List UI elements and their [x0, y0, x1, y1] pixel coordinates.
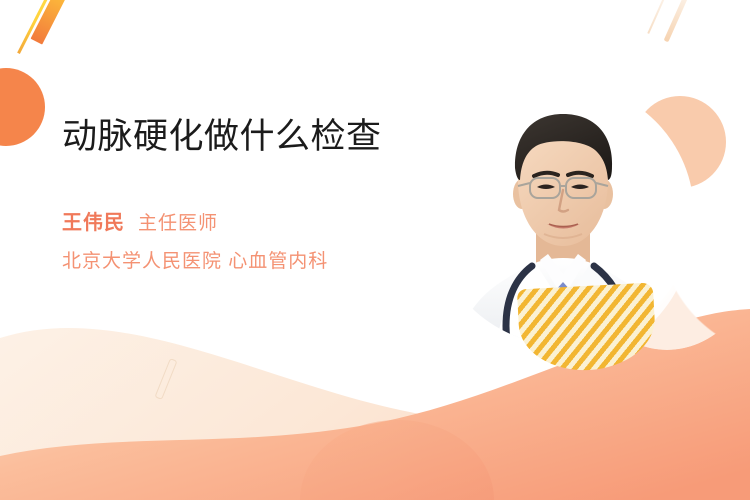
orange-circle-decoration	[0, 68, 45, 146]
lower-left-faint-stripe-icon	[154, 358, 177, 400]
top-right-stripe-b-icon	[647, 0, 672, 34]
top-right-stripe-a-icon	[664, 0, 694, 42]
top-left-thin-stripe-icon	[17, 0, 59, 54]
doctor-byline: 王伟民 主任医师	[62, 206, 412, 235]
top-left-thick-stripe-icon	[31, 0, 79, 45]
doctor-title: 主任医师	[138, 208, 218, 235]
page-title: 动脉硬化做什么检查	[62, 112, 397, 161]
article-cover-card: 动脉硬化做什么检查 王伟民 主任医师 北京大学人民医院 心血管内科	[0, 0, 750, 500]
doctor-name: 王伟民	[62, 206, 125, 235]
doctor-affiliation: 北京大学人民医院 心血管内科	[62, 246, 412, 273]
text-block: 动脉硬化做什么检查 王伟民 主任医师 北京大学人民医院 心血管内科	[62, 112, 412, 273]
